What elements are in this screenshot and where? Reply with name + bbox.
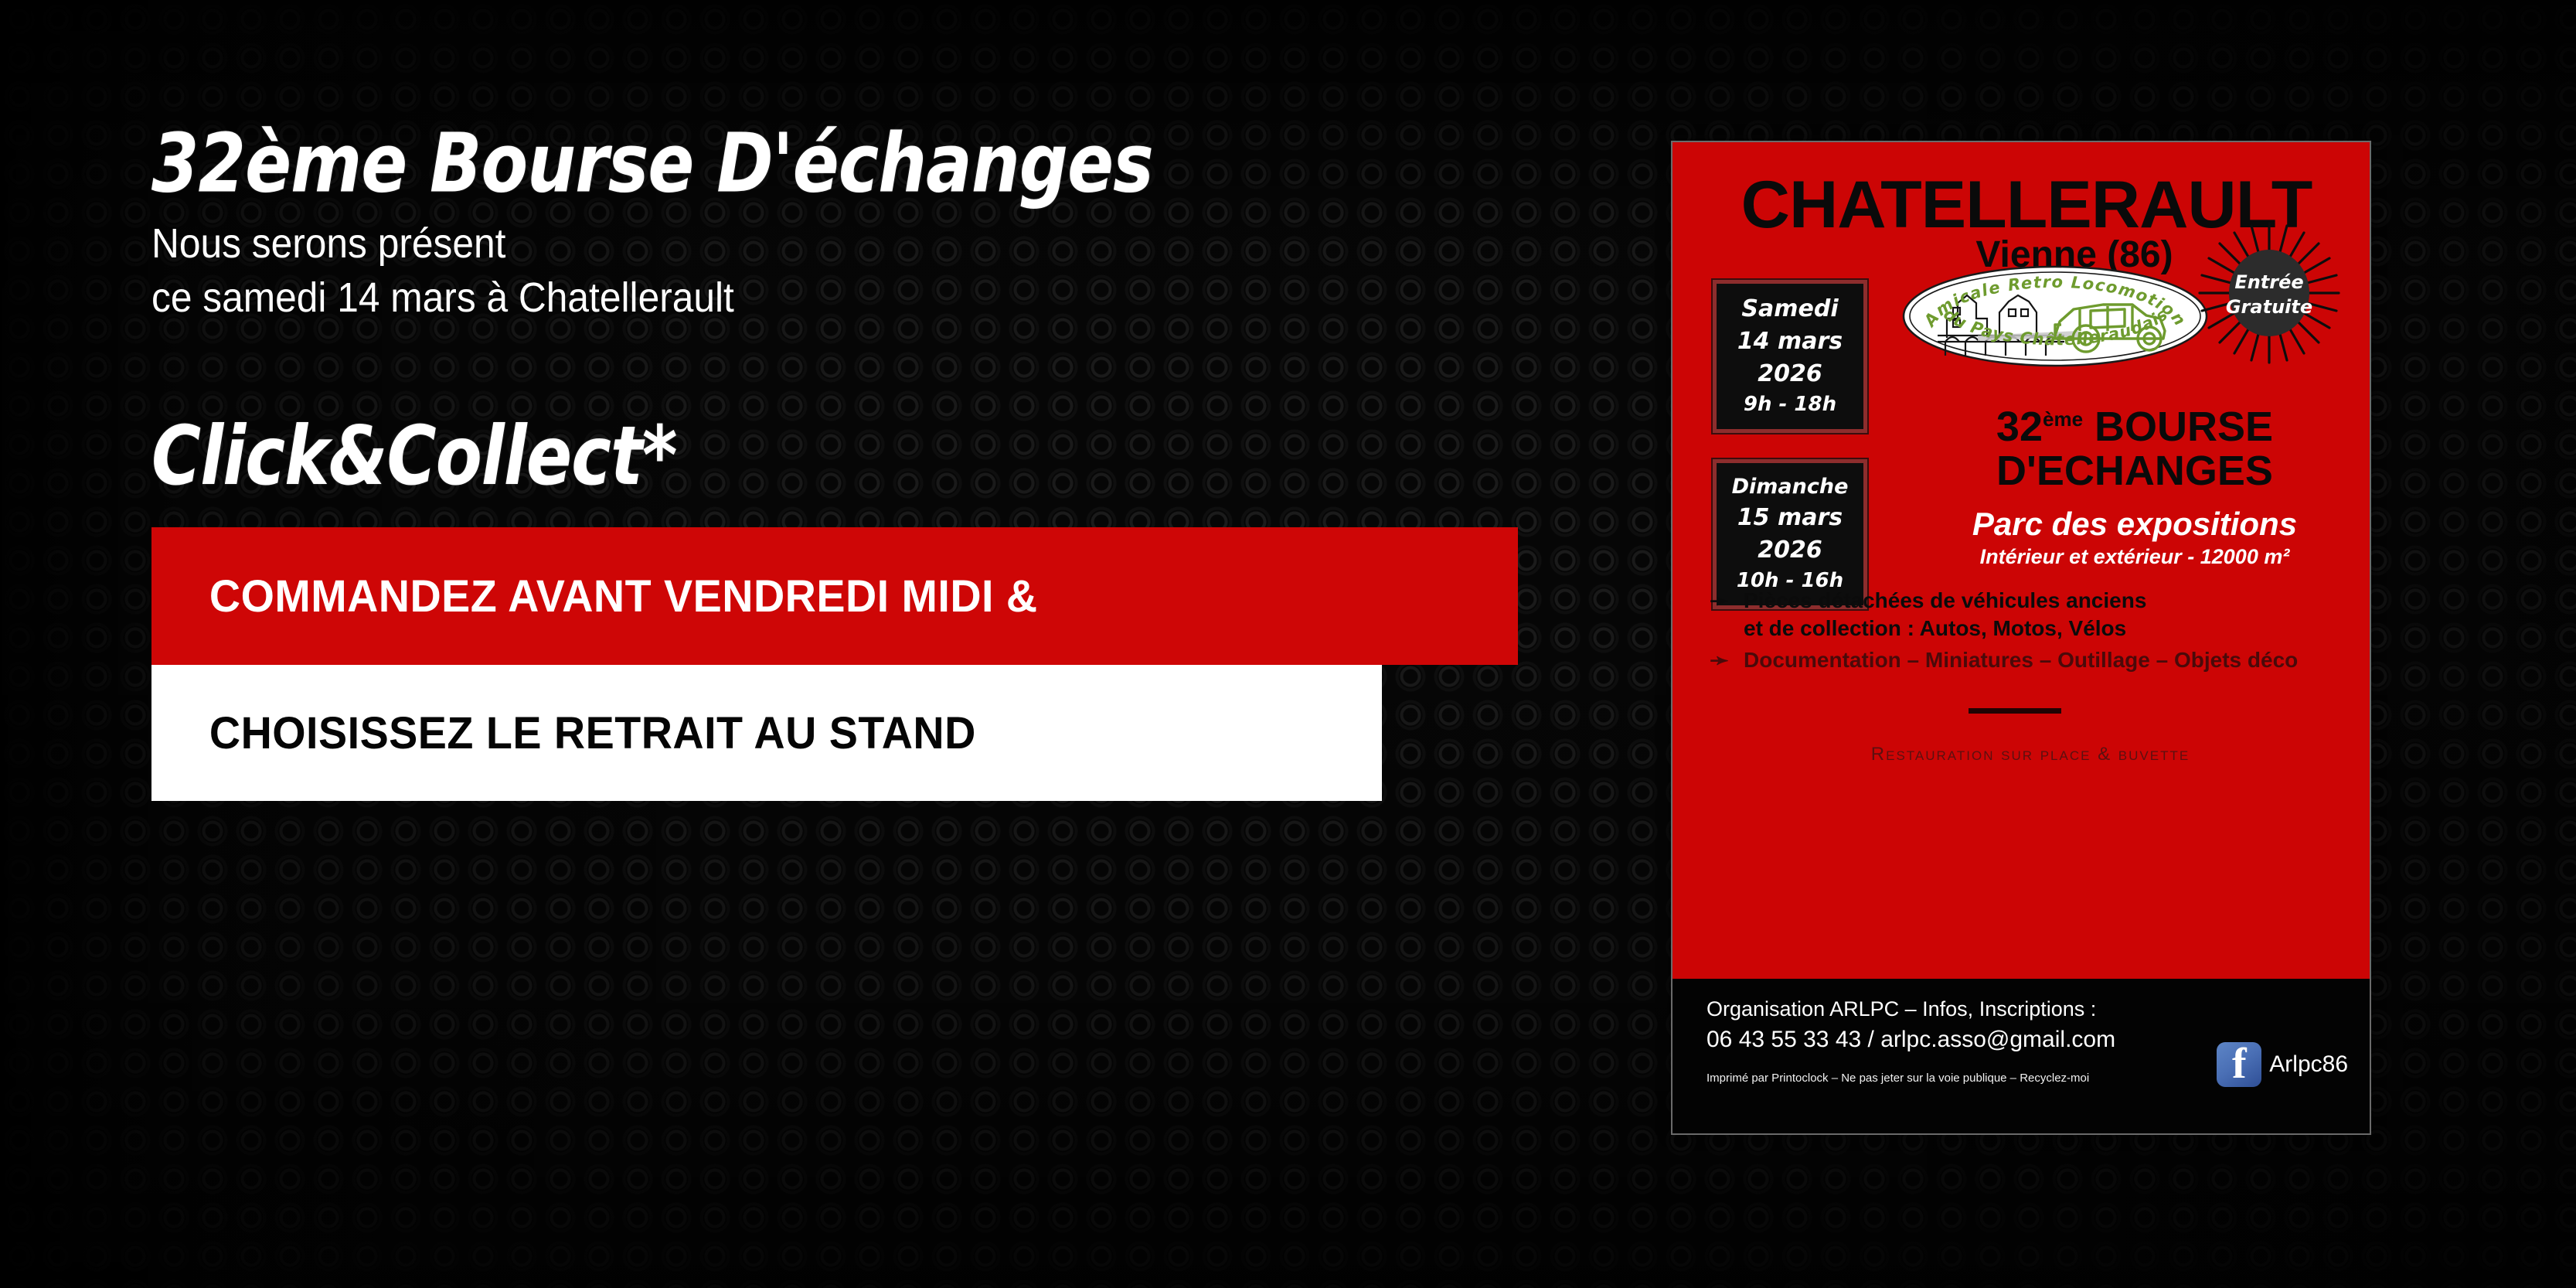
poster-catering-note: Restauration sur place & buvette bbox=[1710, 744, 2351, 765]
bullet-item-text: Pièces détachées de véhicules anciens et… bbox=[1744, 587, 2146, 643]
event-title-word: BOURSE bbox=[2094, 404, 2273, 450]
poster-event-title: 32ème BOURSE D'ECHANGES bbox=[1918, 405, 2351, 493]
date-hours-label: 9h - 18h bbox=[1720, 390, 1860, 418]
free-entry-line1: Entrée bbox=[2234, 271, 2303, 293]
footer-legal-text: Imprimé par Printoclock – Ne pas jeter s… bbox=[1707, 1072, 2089, 1085]
promo-content-column: 32ème Bourse D'échanges Nous serons prés… bbox=[151, 124, 1574, 801]
date-year-label: 2026 bbox=[1720, 358, 1860, 390]
footer-organisation-text: Organisation ARLPC – Infos, Inscriptions… bbox=[1707, 997, 2096, 1021]
free-entry-badge: Entrée Gratuite bbox=[2192, 216, 2346, 370]
club-logo: Amicale Retro Locomotion du Pays Châtell… bbox=[1901, 264, 2210, 369]
event-poster: CHATELLERAULT Vienne (86) Samedi 14 mars… bbox=[1671, 141, 2371, 1135]
date-year-label: 2026 bbox=[1720, 534, 1860, 567]
club-logo-graphic: Amicale Retro Locomotion du Pays Châtell… bbox=[1901, 264, 2210, 369]
date-date-label: 14 mars bbox=[1720, 325, 1860, 358]
instruction-band-order-label: COMMANDEZ AVANT VENDREDI MIDI & bbox=[151, 571, 1038, 622]
date-box-saturday: Samedi 14 mars 2026 9h - 18h bbox=[1713, 280, 1867, 433]
date-day-label: Dimanche bbox=[1720, 472, 1860, 502]
event-title-line1: 32ème BOURSE bbox=[1918, 405, 2351, 449]
starburst-icon: Entrée Gratuite bbox=[2192, 216, 2346, 370]
poster-main-area: CHATELLERAULT Vienne (86) Samedi 14 mars… bbox=[1673, 142, 2370, 982]
bullet-item: ➛ Pièces détachées de véhicules anciens … bbox=[1710, 587, 2351, 643]
facebook-page-label: Arlpc86 bbox=[2269, 1051, 2348, 1078]
bullet-line-2: et de collection : Autos, Motos, Vélos bbox=[1744, 615, 2146, 642]
footer-social-link[interactable]: Arlpc86 bbox=[2217, 1042, 2348, 1087]
promotional-banner: 32ème Bourse D'échanges Nous serons prés… bbox=[0, 0, 2576, 1288]
poster-footer: Organisation ARLPC – Infos, Inscriptions… bbox=[1673, 979, 2370, 1133]
event-ordinal-number: 32 bbox=[1996, 404, 2043, 450]
click-collect-instruction-bands: COMMANDEZ AVANT VENDREDI MIDI & CHOISISS… bbox=[151, 527, 1574, 801]
poster-divider bbox=[1969, 708, 2061, 714]
venue-detail: Intérieur et extérieur - 12000 m² bbox=[1918, 544, 2351, 569]
bullet-line-1: Pièces détachées de véhicules anciens bbox=[1744, 588, 2146, 612]
poster-venue: Parc des expositions Intérieur et extéri… bbox=[1918, 506, 2351, 569]
instruction-band-order: COMMANDEZ AVANT VENDREDI MIDI & bbox=[151, 527, 1518, 665]
event-ordinal-suffix: ème bbox=[2043, 407, 2083, 431]
event-title-line2: D'ECHANGES bbox=[1918, 449, 2351, 493]
bullet-item-text: Documentation – Miniatures – Outillage –… bbox=[1744, 646, 2298, 674]
date-day-label: Samedi bbox=[1720, 293, 1860, 325]
arrow-bullet-icon: ➛ bbox=[1710, 587, 1744, 616]
instruction-band-pickup: CHOISISSEZ LE RETRAIT AU STAND bbox=[151, 665, 1382, 801]
promo-headline: 32ème Bourse D'échanges bbox=[151, 124, 1489, 205]
free-entry-line2: Gratuite bbox=[2226, 296, 2312, 318]
click-and-collect-title: Click&Collect* bbox=[151, 416, 1502, 497]
bullet-line-1: Documentation – Miniatures – Outillage –… bbox=[1744, 648, 2298, 672]
date-date-label: 15 mars bbox=[1720, 502, 1860, 534]
arrow-bullet-icon: ➛ bbox=[1710, 646, 1744, 676]
promo-subheadline: Nous serons présent ce samedi 14 mars à … bbox=[151, 216, 1460, 325]
instruction-band-pickup-label: CHOISISSEZ LE RETRAIT AU STAND bbox=[151, 707, 976, 759]
footer-contact-text: 06 43 55 33 43 / arlpc.asso@gmail.com bbox=[1707, 1027, 2115, 1053]
poster-bullet-list: ➛ Pièces détachées de véhicules anciens … bbox=[1710, 587, 2351, 679]
bullet-item: ➛ Documentation – Miniatures – Outillage… bbox=[1710, 646, 2351, 676]
venue-name: Parc des expositions bbox=[1918, 506, 2351, 543]
facebook-icon[interactable] bbox=[2217, 1042, 2261, 1087]
